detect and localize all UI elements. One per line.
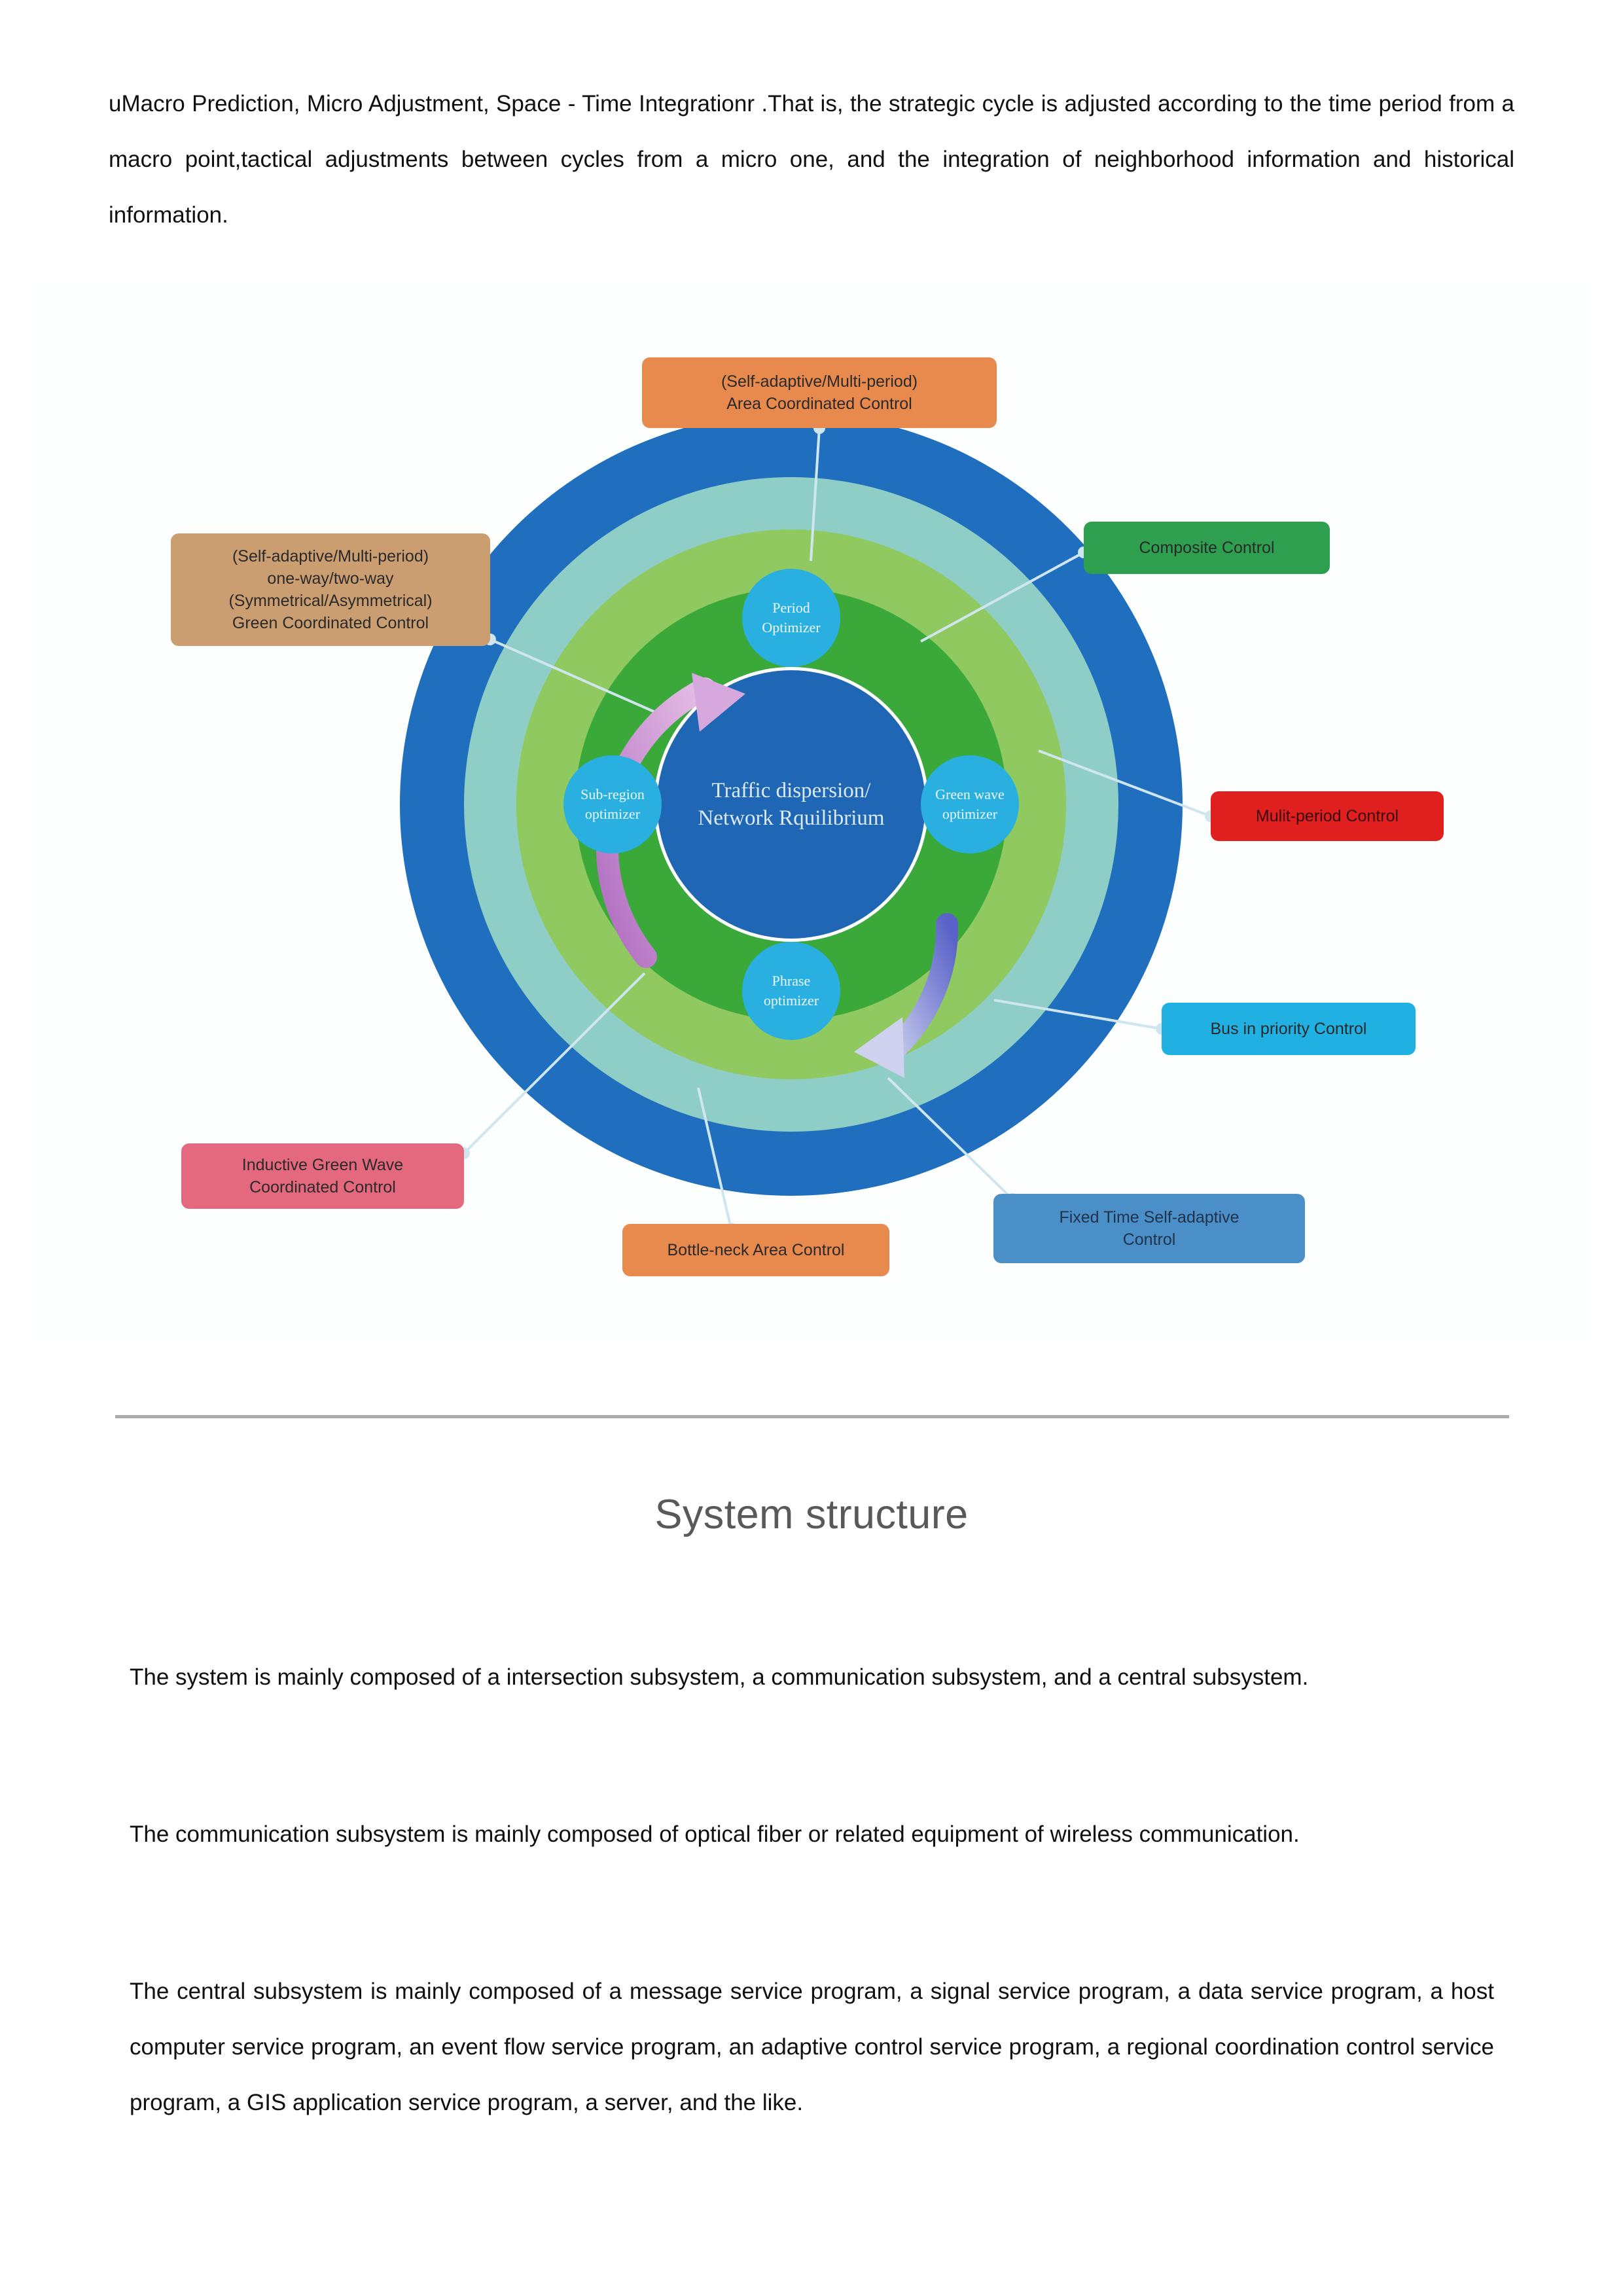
period-optimizer-bubble[interactable]: Period Optimizer <box>742 569 840 667</box>
callout-inductive-line2: Coordinated Control <box>242 1176 403 1198</box>
callout-inductive-green-wave-control[interactable]: Inductive Green Wave Coordinated Control <box>181 1143 464 1209</box>
callout-green-coordinated-control[interactable]: (Self-adaptive/Multi-period) one-way/two… <box>171 533 490 646</box>
callout-area-line1: (Self-adaptive/Multi-period) <box>721 370 918 393</box>
body-paragraph-3: The central subsystem is mainly composed… <box>130 1964 1494 2130</box>
green-wave-optimizer-bubble[interactable]: Green wave optimizer <box>921 755 1019 853</box>
green-wave-optimizer-line2: optimizer <box>935 804 1005 824</box>
callout-composite-label: Composite Control <box>1139 537 1274 559</box>
callout-green-line3: (Symmetrical/Asymmetrical) <box>228 590 432 612</box>
phrase-optimizer-bubble[interactable]: Phrase optimizer <box>742 942 840 1040</box>
callout-inductive-line1: Inductive Green Wave <box>242 1154 403 1176</box>
section-heading-system-structure: System structure <box>0 1491 1623 1538</box>
intro-paragraph: uMacro Prediction, Micro Adjustment, Spa… <box>109 76 1514 243</box>
callout-bottle-neck-area-control[interactable]: Bottle-neck Area Control <box>622 1224 889 1276</box>
period-optimizer-line1: Period <box>762 598 820 618</box>
phrase-optimizer-line2: optimizer <box>764 991 819 1011</box>
callout-bus-in-priority-control[interactable]: Bus in priority Control <box>1162 1003 1416 1055</box>
phrase-optimizer-line1: Phrase <box>764 971 819 991</box>
sub-region-optimizer-bubble[interactable]: Sub-region optimizer <box>563 755 662 853</box>
callout-multi-period-label: Mulit-period Control <box>1256 805 1399 827</box>
callout-composite-control[interactable]: Composite Control <box>1084 522 1330 574</box>
section-divider <box>115 1415 1509 1418</box>
callout-fixed-time-self-adaptive-control[interactable]: Fixed Time Self-adaptive Control <box>993 1194 1305 1263</box>
body-paragraph-1: The system is mainly composed of a inter… <box>130 1649 1494 1705</box>
callout-green-line2: one-way/two-way <box>228 567 432 590</box>
callout-fixed-line2: Control <box>1059 1229 1239 1251</box>
green-wave-optimizer-line1: Green wave <box>935 785 1005 804</box>
core-label-line2: Network Rquilibrium <box>667 804 916 832</box>
traffic-control-diagram-figure: Traffic dispersion/ Network Rquilibrium … <box>37 283 1587 1343</box>
callout-area-line2: Area Coordinated Control <box>721 393 918 415</box>
core-label: Traffic dispersion/ Network Rquilibrium <box>667 777 916 832</box>
callout-area-coordinated-control[interactable]: (Self-adaptive/Multi-period) Area Coordi… <box>642 357 997 428</box>
callout-green-line1: (Self-adaptive/Multi-period) <box>228 545 432 567</box>
core-label-line1: Traffic dispersion/ <box>667 777 916 804</box>
sub-region-optimizer-line2: optimizer <box>580 804 645 824</box>
callout-bottleneck-label: Bottle-neck Area Control <box>668 1239 845 1261</box>
period-optimizer-line2: Optimizer <box>762 618 820 637</box>
callout-green-line4: Green Coordinated Control <box>228 612 432 634</box>
callout-multi-period-control[interactable]: Mulit-period Control <box>1211 791 1444 841</box>
callout-fixed-line1: Fixed Time Self-adaptive <box>1059 1206 1239 1229</box>
sub-region-optimizer-line1: Sub-region <box>580 785 645 804</box>
concentric-ring-diagram: Traffic dispersion/ Network Rquilibrium … <box>37 283 1587 1343</box>
body-paragraph-2: The communication subsystem is mainly co… <box>130 1806 1494 1862</box>
callout-bus-label: Bus in priority Control <box>1211 1018 1367 1040</box>
